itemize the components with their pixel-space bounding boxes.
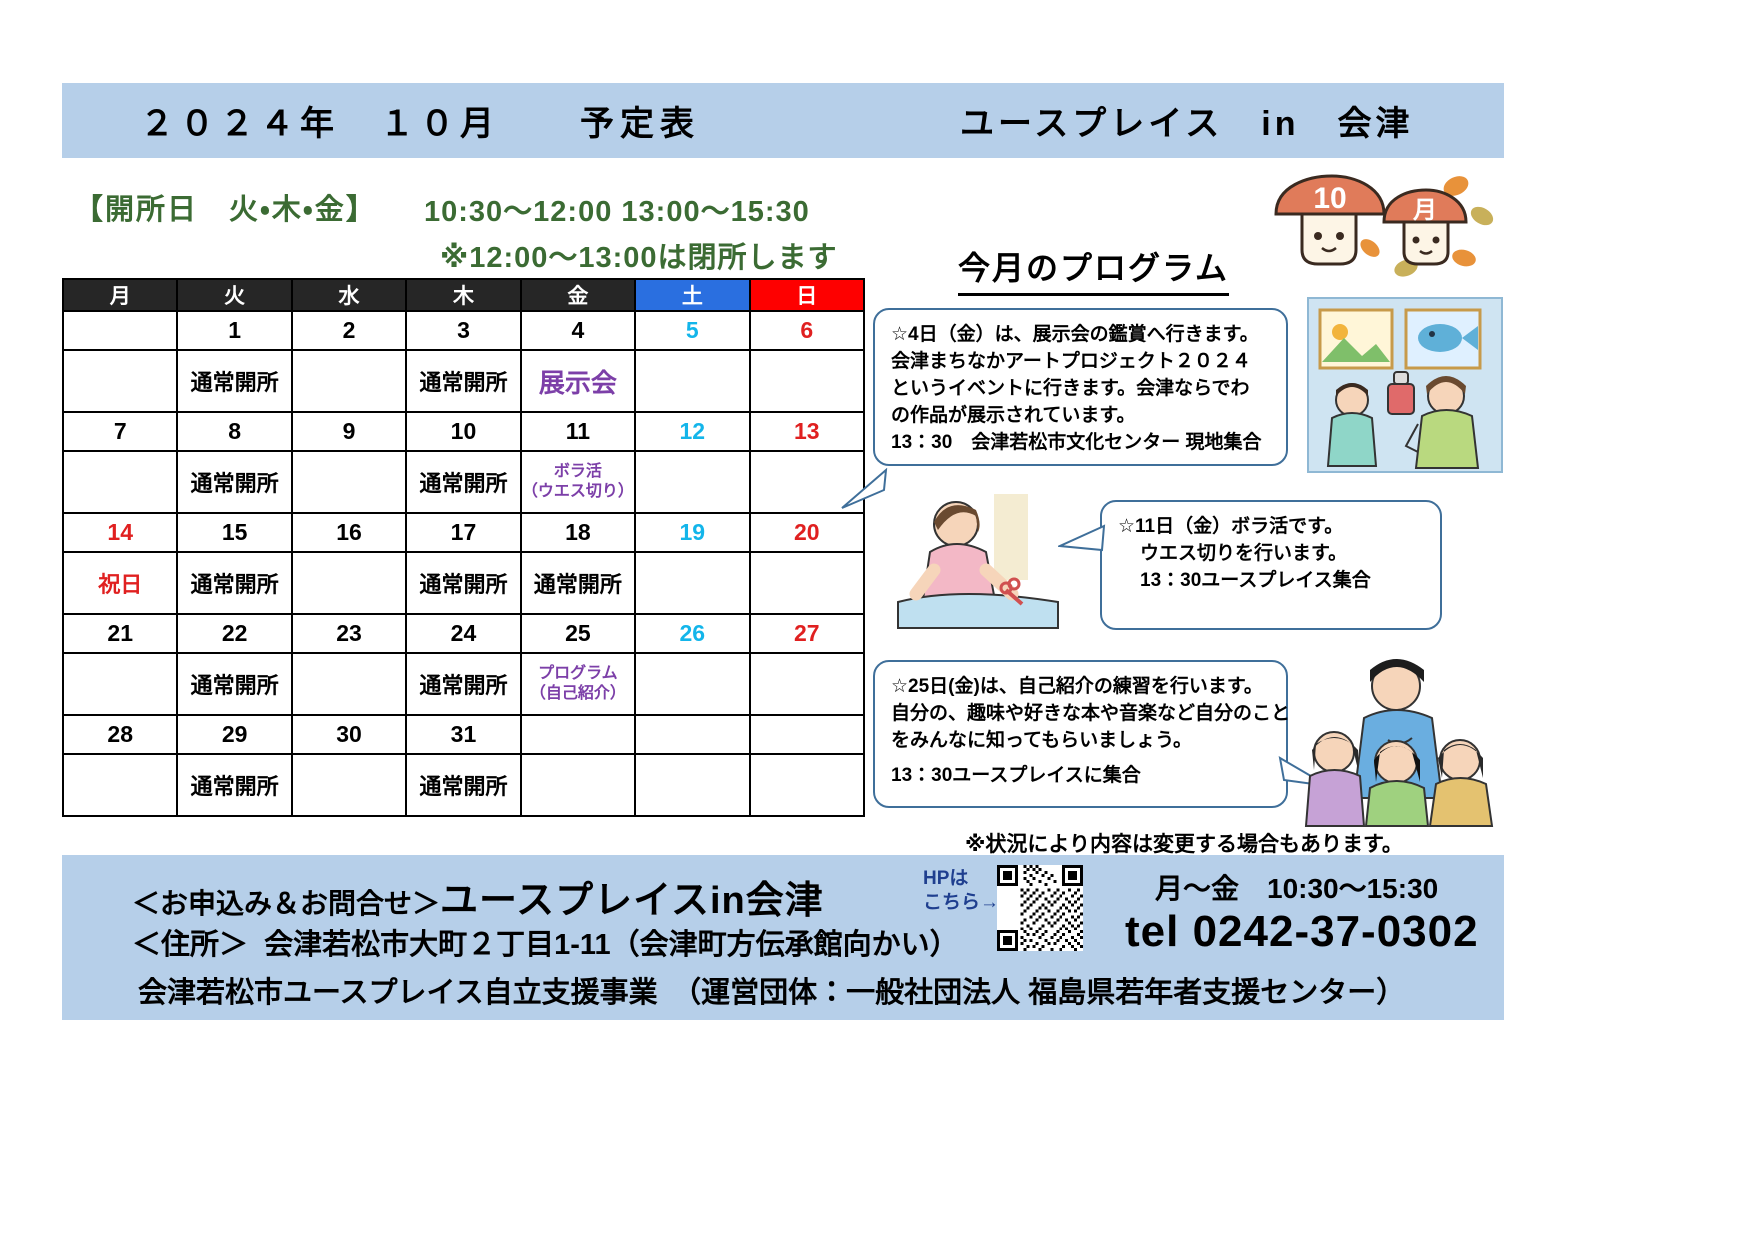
date-cell: 31 [406, 715, 520, 754]
weekday-header-tue: 火 [177, 279, 291, 311]
event-cell [63, 350, 177, 412]
event-line-1: プログラム [522, 664, 634, 684]
event-cell-exhibition: 展示会 [521, 350, 635, 412]
date-cell: 9 [292, 412, 406, 451]
date-cell: 21 [63, 614, 177, 653]
date-cell: 4 [521, 311, 635, 350]
calendar-date-row: 21 22 23 24 25 26 27 [63, 614, 864, 653]
address-label: ＜住所＞ [132, 929, 248, 961]
open-days-label: 【開所日 火・木・金】 [74, 186, 377, 228]
art-viewing-illustration [1306, 296, 1504, 474]
event-cell [750, 350, 864, 412]
event-cell: 通常開所 [406, 653, 520, 715]
date-cell: 26 [635, 614, 749, 653]
calendar-date-row: 1 2 3 4 5 6 [63, 311, 864, 350]
event-cell-program: プログラム （自己紹介） [521, 653, 635, 715]
change-notice: ※状況により内容は変更する場合もあります。 [965, 828, 1403, 858]
date-cell: 12 [635, 412, 749, 451]
date-cell: 22 [177, 614, 291, 653]
callout-line: ☆11日（金）ボラ活です。 [1118, 514, 1426, 541]
address-value: 会津若松市大町２丁目1-11（会津町方伝承館向かい） [264, 929, 958, 961]
event-cell: 通常開所 [177, 653, 291, 715]
date-cell: 3 [406, 311, 520, 350]
date-cell: 20 [750, 513, 864, 552]
event-line-2: （ウエス切り） [522, 482, 634, 502]
event-cell [750, 653, 864, 715]
closed-period-note: ※12:00〜13:00は閉所します [440, 234, 838, 276]
hp-label-line-1: HPは [923, 867, 999, 891]
event-cell [635, 552, 749, 614]
date-cell: 29 [177, 715, 291, 754]
date-cell: 28 [63, 715, 177, 754]
telephone-hours: 月〜金 10:30〜15:30 [1155, 867, 1438, 907]
callout-line: ☆4日（金）は、展示会の鑑賞へ行きます。 [891, 322, 1272, 349]
date-cell: 30 [292, 715, 406, 754]
weekday-header-sat: 土 [635, 279, 749, 311]
date-cell: 7 [63, 412, 177, 451]
telephone-number[interactable]: tel 0242-37-0302 [1125, 907, 1479, 957]
date-cell: 23 [292, 614, 406, 653]
calendar-event-row: 祝日 通常開所 通常開所 通常開所 [63, 552, 864, 614]
weekday-header-wed: 水 [292, 279, 406, 311]
calendar-event-row: 通常開所 通常開所 ボラ活 （ウエス切り） [63, 451, 864, 513]
hp-label-line-2: こちら→ [923, 891, 999, 915]
callout-line: ウエス切りを行います。 [1118, 541, 1426, 568]
event-cell [292, 754, 406, 816]
callout-line: の作品が展示されています。 [891, 403, 1272, 430]
date-cell: 6 [750, 311, 864, 350]
event-cell: 通常開所 [406, 451, 520, 513]
event-cell [635, 653, 749, 715]
footer-banner: ＜お申込み＆お問合せ＞ユースプレイスin会津 ＜住所＞ 会津若松市大町２丁目1-… [62, 855, 1504, 1020]
weekday-header-fri: 金 [521, 279, 635, 311]
date-cell: 15 [177, 513, 291, 552]
date-cell: 27 [750, 614, 864, 653]
date-cell: 14 [63, 513, 177, 552]
schedule-calendar: 月 火 水 木 金 土 日 1 2 3 4 5 6 通常開所 [62, 278, 865, 817]
event-cell [521, 754, 635, 816]
event-line-1: ボラ活 [522, 462, 634, 482]
callout-volunteer: ☆11日（金）ボラ活です。 ウエス切りを行います。 13：30ユースプレイス集合 [1100, 500, 1442, 630]
page-title: ２０２４年 １０月 予定表 [140, 96, 700, 145]
date-cell [750, 715, 864, 754]
calendar-header-row: 月 火 水 木 金 土 日 [63, 279, 864, 311]
event-cell [292, 552, 406, 614]
event-cell [292, 451, 406, 513]
event-cell-volunteer: ボラ活 （ウエス切り） [521, 451, 635, 513]
opening-hours: 10:30〜12:00 13:00〜15:30 [424, 188, 810, 230]
callout-line: 13：30 会津若松市文化センター 現地集合 [891, 430, 1272, 457]
callout-line: ☆25日(金)は、自己紹介の練習を行います。 [891, 674, 1272, 701]
operator-line: 会津若松市ユースプレイス自立支援事業 （運営団体：一般社団法人 福島県若年者支援… [138, 969, 1405, 1011]
date-cell [63, 311, 177, 350]
event-cell [635, 350, 749, 412]
date-cell: 8 [177, 412, 291, 451]
weekday-header-sun: 日 [750, 279, 864, 311]
flyer-page: ２０２４年 １０月 予定表 ユースプレイス in 会津 【開所日 火・木・金】 … [0, 0, 1754, 1240]
date-cell: 1 [177, 311, 291, 350]
address-line: ＜住所＞ 会津若松市大町２丁目1-11（会津町方伝承館向かい） [132, 921, 959, 963]
callout-line: 会津まちなかアートプロジェクト２０２４ [891, 349, 1272, 376]
date-cell: 19 [635, 513, 749, 552]
hp-link-label: HPは こちら→ [923, 867, 999, 915]
event-cell: 通常開所 [177, 552, 291, 614]
event-cell: 通常開所 [521, 552, 635, 614]
calendar-date-row: 14 15 16 17 18 19 20 [63, 513, 864, 552]
event-cell [63, 653, 177, 715]
date-cell: 16 [292, 513, 406, 552]
date-cell: 11 [521, 412, 635, 451]
qr-code[interactable] [997, 865, 1083, 951]
event-cell [63, 754, 177, 816]
callout-line: 13：30ユースプレイスに集合 [891, 763, 1272, 790]
callout-line: 13：30ユースプレイス集合 [1118, 568, 1426, 595]
october-mushroom-illustration: 10 月 [1258, 172, 1498, 282]
calendar-event-row: 通常開所 通常開所 展示会 [63, 350, 864, 412]
date-cell: 17 [406, 513, 520, 552]
event-cell: 通常開所 [406, 754, 520, 816]
date-cell: 24 [406, 614, 520, 653]
contact-line: ＜お申込み＆お問合せ＞ユースプレイスin会津 [132, 869, 824, 924]
callout-tail-exhibition [838, 468, 888, 510]
event-line-2: （自己紹介） [522, 684, 634, 704]
event-cell: 通常開所 [406, 350, 520, 412]
event-cell: 通常開所 [177, 350, 291, 412]
date-cell [635, 715, 749, 754]
callout-spacer [891, 755, 1272, 763]
date-cell: 5 [635, 311, 749, 350]
callout-exhibition: ☆4日（金）は、展示会の鑑賞へ行きます。 会津まちなかアートプロジェクト２０２４… [873, 308, 1288, 466]
callout-self-introduction: ☆25日(金)は、自己紹介の練習を行います。 自分の、趣味や好きな本や音楽など自… [873, 660, 1288, 808]
contact-org-name: ユースプレイスin会津 [440, 880, 824, 922]
weekday-header-mon: 月 [63, 279, 177, 311]
event-cell: 通常開所 [406, 552, 520, 614]
event-cell-holiday: 祝日 [63, 552, 177, 614]
calendar-event-row: 通常開所 通常開所 プログラム （自己紹介） [63, 653, 864, 715]
event-cell: 通常開所 [177, 754, 291, 816]
weekday-header-thu: 木 [406, 279, 520, 311]
date-cell: 25 [521, 614, 635, 653]
callout-line: というイベントに行きます。会津ならでわ [891, 376, 1272, 403]
calendar-date-row: 7 8 9 10 11 12 13 [63, 412, 864, 451]
event-cell [63, 451, 177, 513]
event-cell: 通常開所 [177, 451, 291, 513]
date-cell: 10 [406, 412, 520, 451]
event-cell [635, 451, 749, 513]
organization-title: ユースプレイス in 会津 [960, 96, 1414, 145]
badge-month-number: 10 [1313, 182, 1346, 215]
calendar-event-row: 通常開所 通常開所 [63, 754, 864, 816]
callout-line: 自分の、趣味や好きな本や音楽など自分のこと [891, 701, 1272, 728]
program-section-heading: 今月のプログラム [958, 243, 1229, 296]
event-cell [292, 350, 406, 412]
date-cell: 13 [750, 412, 864, 451]
event-cell [292, 653, 406, 715]
contact-prefix-label: ＜お申込み＆お問合せ＞ [132, 888, 440, 919]
badge-month-suffix: 月 [1412, 197, 1437, 224]
event-cell [750, 754, 864, 816]
event-cell [635, 754, 749, 816]
date-cell: 2 [292, 311, 406, 350]
callout-line: をみんなに知ってもらいましょう。 [891, 728, 1272, 755]
top-banner: ２０２４年 １０月 予定表 ユースプレイス in 会津 [62, 83, 1504, 158]
group-people-illustration [1300, 648, 1508, 828]
sewing-person-illustration [890, 490, 1070, 630]
calendar-date-row: 28 29 30 31 [63, 715, 864, 754]
event-cell [750, 552, 864, 614]
date-cell: 18 [521, 513, 635, 552]
date-cell [521, 715, 635, 754]
